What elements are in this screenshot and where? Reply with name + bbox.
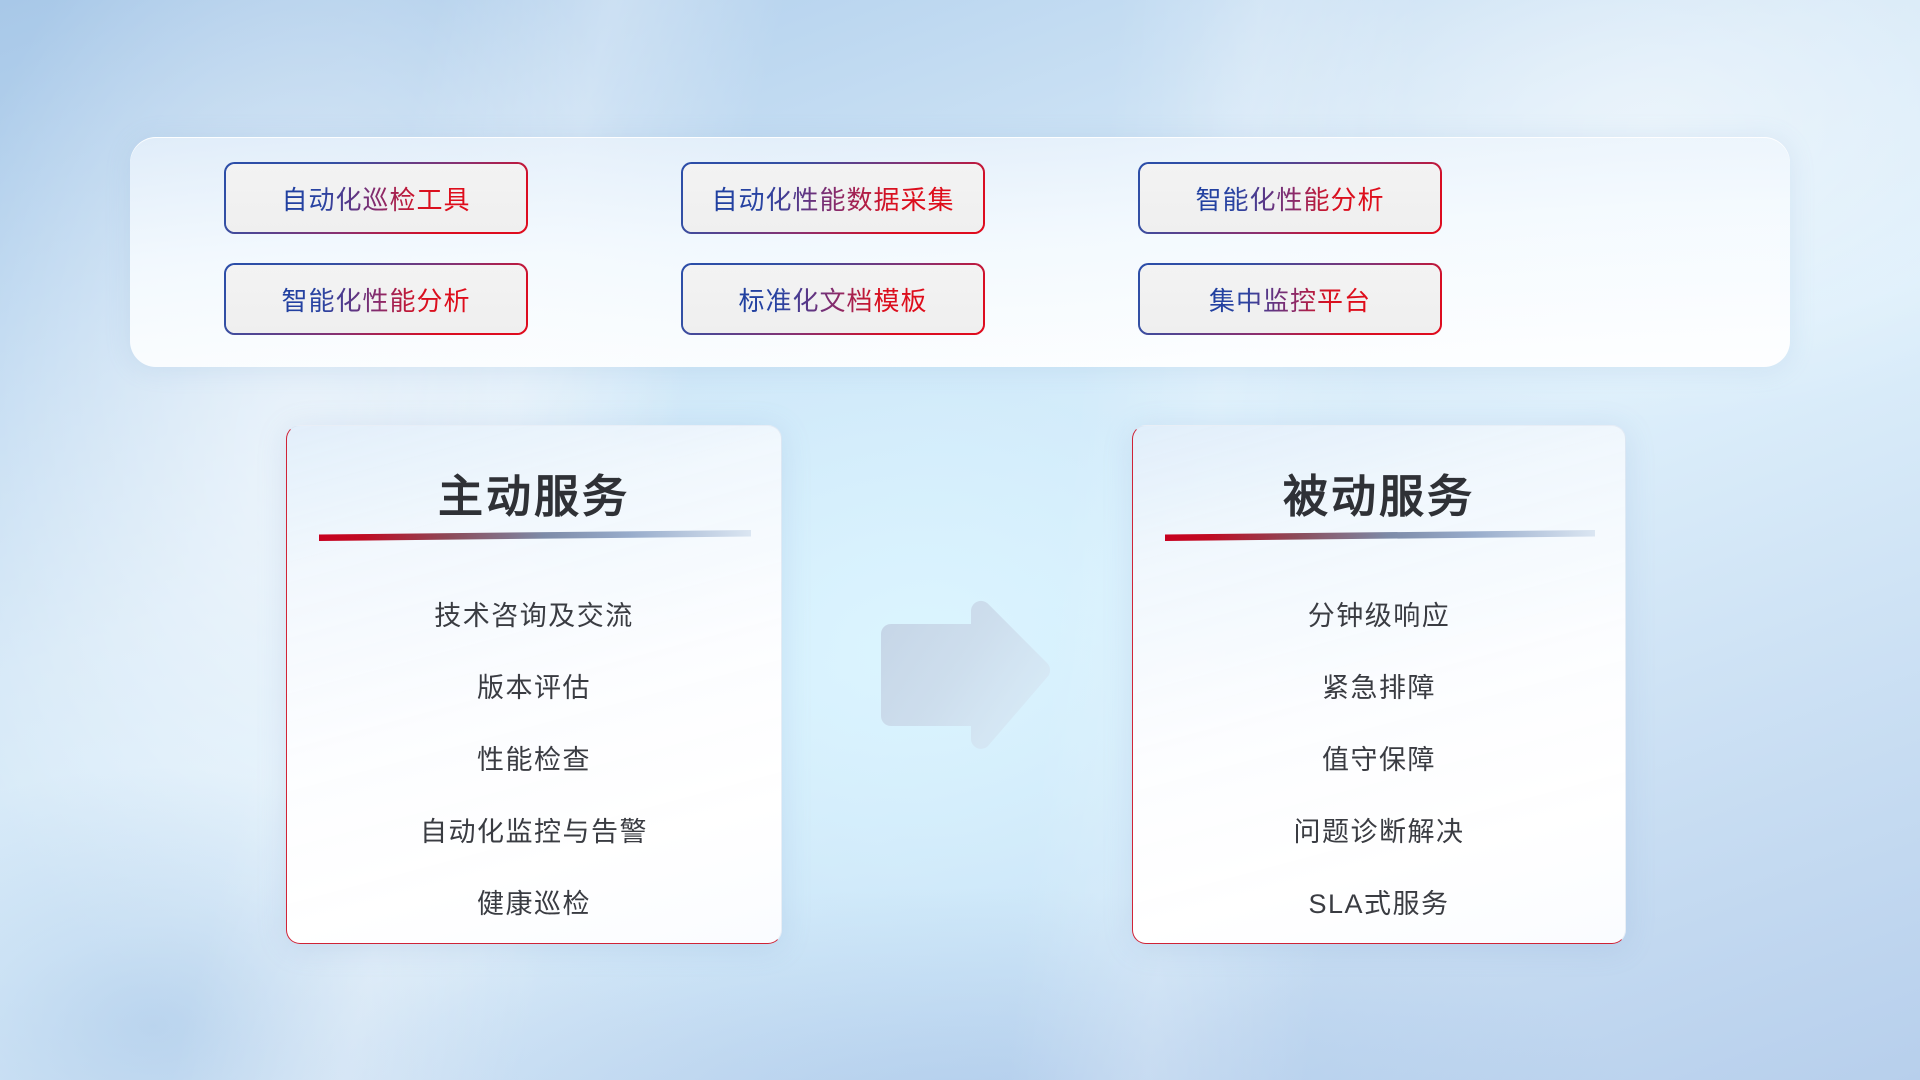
card-item-list: 分钟级响应 紧急排障 值守保障 问题诊断解决 SLA式服务 — [1133, 580, 1625, 940]
card-title: 被动服务 — [1133, 460, 1625, 525]
service-card-passive[interactable]: 被动服务 分钟级响应 紧急排障 值守保障 问题诊断解决 SLA式服务 — [1132, 425, 1626, 944]
capability-pill-surface: 智能化性能分析 — [226, 265, 526, 333]
arrow-right-icon — [875, 600, 1055, 750]
card-item-list: 技术咨询及交流 版本评估 性能检查 自动化监控与告警 健康巡检 — [287, 580, 781, 940]
capability-pill[interactable]: 标准化文档模板 — [683, 265, 983, 333]
capability-pill-surface: 集中监控平台 — [1140, 265, 1440, 333]
card-list-item[interactable]: 健康巡检 — [287, 868, 781, 940]
card-title-divider — [1165, 530, 1595, 541]
capability-pill[interactable]: 集中监控平台 — [1140, 265, 1440, 333]
capability-pill-surface: 智能化性能分析 — [1140, 164, 1440, 232]
capability-pill-label: 自动化巡检工具 — [281, 180, 470, 217]
card-title: 主动服务 — [287, 460, 781, 525]
card-list-item[interactable]: 性能检查 — [287, 724, 781, 796]
card-list-item[interactable]: 紧急排障 — [1133, 652, 1625, 724]
card-list-item[interactable]: 技术咨询及交流 — [287, 580, 781, 652]
card-list-item[interactable]: 问题诊断解决 — [1133, 796, 1625, 868]
card-list-item[interactable]: 值守保障 — [1133, 724, 1625, 796]
capability-pill-label: 集中监控平台 — [1209, 281, 1371, 318]
service-card-active[interactable]: 主动服务 技术咨询及交流 版本评估 性能检查 自动化监控与告警 健康巡检 — [286, 425, 782, 944]
capability-pill-label: 自动化性能数据采集 — [711, 180, 954, 217]
capability-pill[interactable]: 智能化性能分析 — [226, 265, 526, 333]
capability-pill[interactable]: 智能化性能分析 — [1140, 164, 1440, 232]
capability-pill-label: 标准化文档模板 — [738, 281, 927, 318]
card-list-item[interactable]: SLA式服务 — [1133, 868, 1625, 940]
capability-pill-surface: 标准化文档模板 — [683, 265, 983, 333]
capability-pill-surface: 自动化巡检工具 — [226, 164, 526, 232]
capability-pill-surface: 自动化性能数据采集 — [683, 164, 983, 232]
capability-pill-label: 智能化性能分析 — [281, 281, 470, 318]
capabilities-panel: 自动化巡检工具 自动化性能数据采集 智能化性能分析 智能化性能分析 标准化文档模… — [130, 137, 1790, 367]
card-title-divider — [319, 530, 751, 541]
card-list-item[interactable]: 版本评估 — [287, 652, 781, 724]
capability-pill[interactable]: 自动化性能数据采集 — [683, 164, 983, 232]
capability-pill-label: 智能化性能分析 — [1195, 180, 1384, 217]
capability-pill[interactable]: 自动化巡检工具 — [226, 164, 526, 232]
card-list-item[interactable]: 自动化监控与告警 — [287, 796, 781, 868]
card-list-item[interactable]: 分钟级响应 — [1133, 580, 1625, 652]
capabilities-pill-grid: 自动化巡检工具 自动化性能数据采集 智能化性能分析 智能化性能分析 标准化文档模… — [226, 164, 1440, 333]
